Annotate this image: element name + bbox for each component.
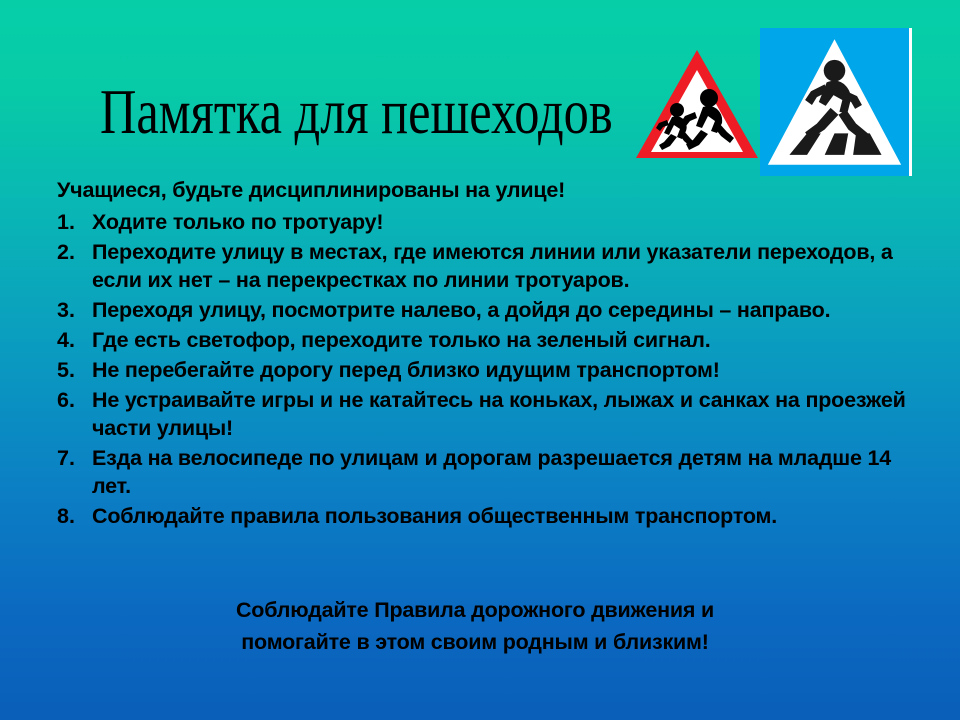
closing-line-1: Соблюдайте Правила дорожного движения и — [130, 594, 820, 626]
rules-list: 1. Ходите только по тротуару! 2. Переход… — [57, 208, 907, 532]
list-item: 2. Переходите улицу в местах, где имеютс… — [57, 238, 907, 294]
list-item-number: 8. — [57, 502, 92, 530]
list-item: 5. Не перебегайте дорогу перед близко ид… — [57, 356, 907, 384]
list-item: 3. Переходя улицу, посмотрите налево, а … — [57, 296, 907, 324]
list-item: 7. Езда на велосипеде по улицам и дорога… — [57, 444, 907, 500]
list-item-text: Переходя улицу, посмотрите налево, а дой… — [92, 296, 907, 324]
list-item-number: 4. — [57, 326, 92, 354]
list-item: 1. Ходите только по тротуару! — [57, 208, 907, 236]
intro-line: Учащиеся, будьте дисциплинированы на ули… — [57, 178, 565, 203]
list-item: 6. Не устраивайте игры и не катайтесь на… — [57, 386, 907, 442]
list-item-number: 5. — [57, 356, 92, 384]
list-item-number: 2. — [57, 238, 92, 266]
list-item-text: Соблюдайте правила пользования обществен… — [92, 502, 907, 530]
list-item-text: Ходите только по тротуару! — [92, 208, 907, 236]
list-item: 4. Где есть светофор, переходите только … — [57, 326, 907, 354]
slide-canvas: Памятка для пешеходов — [0, 0, 960, 720]
list-item-number: 3. — [57, 296, 92, 324]
list-item-number: 1. — [57, 208, 92, 236]
children-crossing-warning-sign — [633, 44, 761, 164]
list-item-number: 6. — [57, 386, 92, 414]
list-item-number: 7. — [57, 444, 92, 472]
list-item-text: Где есть светофор, переходите только на … — [92, 326, 907, 354]
list-item-text: Не перебегайте дорогу перед близко идущи… — [92, 356, 907, 384]
closing-message: Соблюдайте Правила дорожного движения и … — [130, 594, 820, 658]
list-item-text: Не устраивайте игры и не катайтесь на ко… — [92, 386, 907, 442]
list-item: 8. Соблюдайте правила пользования общест… — [57, 502, 907, 530]
pedestrian-crossing-sign — [760, 28, 912, 176]
list-item-text: Переходите улицу в местах, где имеются л… — [92, 238, 907, 294]
page-title: Памятка для пешеходов — [100, 78, 613, 146]
list-item-text: Езда на велосипеде по улицам и дорогам р… — [92, 444, 907, 500]
closing-line-2: помогайте в этом своим родным и близким! — [130, 626, 820, 658]
